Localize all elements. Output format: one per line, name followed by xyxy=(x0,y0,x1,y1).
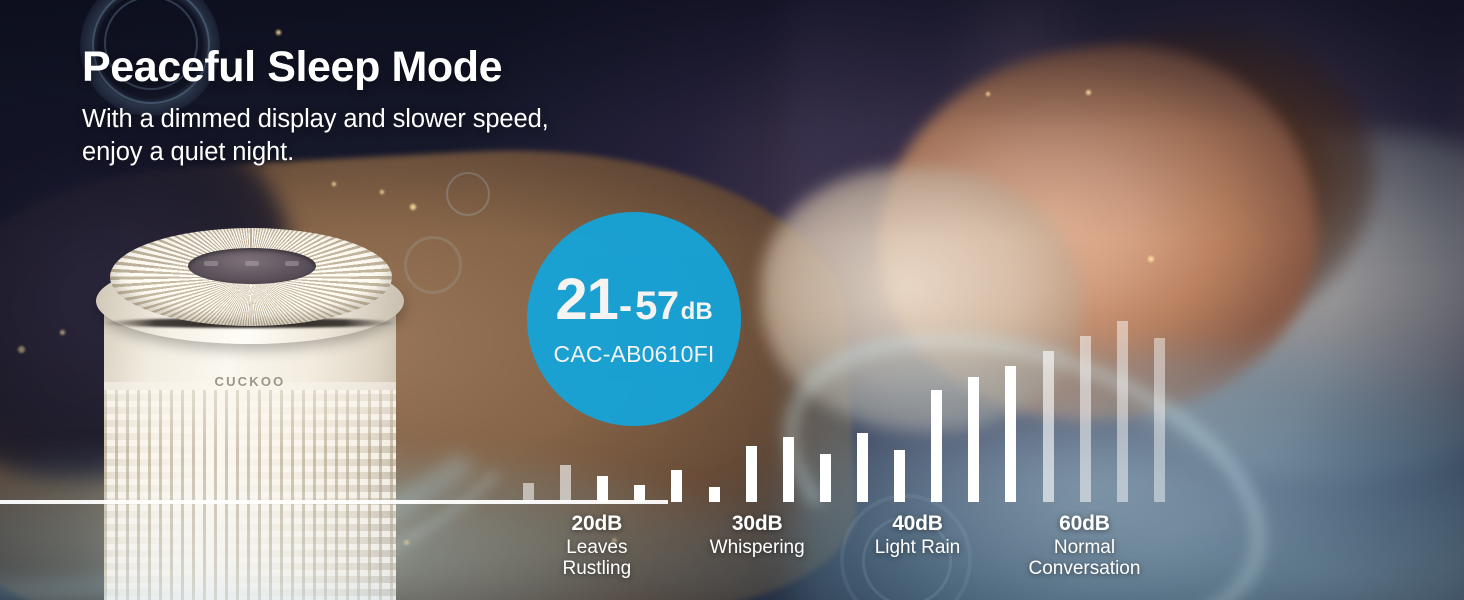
bar-slot xyxy=(696,286,733,502)
bokeh-dot-icon xyxy=(276,30,281,35)
bar-slot xyxy=(807,286,844,502)
bokeh-ring-icon xyxy=(404,236,462,294)
bar-slot xyxy=(1141,286,1178,502)
page-title: Peaceful Sleep Mode xyxy=(82,44,722,90)
copy-block: Peaceful Sleep Mode With a dimmed displa… xyxy=(82,44,722,169)
chart-bar xyxy=(857,433,868,502)
legend-db-value: 40dB xyxy=(875,512,961,536)
bar-slot xyxy=(992,286,1029,502)
legend-source-name: Whispering xyxy=(710,537,805,558)
chart-legend: 20dBLeavesRustling30dBWhispering40dBLigh… xyxy=(510,512,1178,596)
chart-bar xyxy=(1005,366,1016,502)
legend-source-name: Leaves xyxy=(563,537,632,558)
bar-slot xyxy=(621,286,658,502)
page-subtitle: With a dimmed display and slower speed, … xyxy=(82,103,722,168)
chart-bar xyxy=(671,470,682,502)
chart-bar xyxy=(968,377,979,502)
bokeh-dot-icon xyxy=(18,346,25,353)
bokeh-dot-icon xyxy=(332,182,336,186)
timer-button-icon[interactable] xyxy=(285,261,299,266)
chart-baseline-axis xyxy=(0,500,668,504)
chart-bar xyxy=(931,390,942,502)
bar-slot xyxy=(918,286,955,502)
product-mesh-fade xyxy=(104,382,396,600)
legend-db-value: 20dB xyxy=(563,512,632,536)
bar-slot xyxy=(770,286,807,502)
chart-bar xyxy=(746,446,757,502)
chart-bar xyxy=(820,454,831,502)
chart-bar xyxy=(783,437,794,502)
bokeh-dot-icon xyxy=(1086,90,1091,95)
chart-bar xyxy=(894,450,905,502)
legend-source-name: Conversation xyxy=(1028,558,1140,579)
product-air-purifier: CUCKOO xyxy=(92,222,410,600)
chart-bar xyxy=(709,487,720,502)
legend-source-name: Rustling xyxy=(563,558,632,579)
bar-slot xyxy=(547,286,584,502)
fan-speed-button-icon[interactable] xyxy=(245,261,259,266)
legend-item: 60dBNormalConversation xyxy=(1028,512,1140,580)
bar-slot xyxy=(584,286,621,502)
bar-slot xyxy=(1030,286,1067,502)
bokeh-dot-icon xyxy=(380,190,384,194)
noise-bar-chart xyxy=(510,286,1178,502)
chart-bar xyxy=(1154,338,1165,502)
bokeh-dot-icon xyxy=(410,204,416,210)
chart-bar xyxy=(560,465,571,502)
bar-slot xyxy=(658,286,695,502)
chart-bar xyxy=(597,476,608,502)
legend-item: 40dBLight Rain xyxy=(875,512,961,558)
bar-slot xyxy=(881,286,918,502)
bar-slot xyxy=(733,286,770,502)
promo-banner: CUCKOO Peaceful Sleep Mode With a dimmed… xyxy=(0,0,1464,600)
chart-bar xyxy=(1043,351,1054,502)
legend-source-name: Light Rain xyxy=(875,537,961,558)
bar-slot xyxy=(1067,286,1104,502)
power-button-icon[interactable] xyxy=(204,261,218,266)
subtitle-line-2: enjoy a quiet night. xyxy=(82,136,722,169)
legend-db-value: 30dB xyxy=(710,512,805,536)
product-control-panel[interactable] xyxy=(188,248,316,284)
bar-slot xyxy=(844,286,881,502)
chart-bar xyxy=(1080,336,1091,502)
product-brand-logo: CUCKOO xyxy=(104,374,396,389)
bar-series xyxy=(510,286,1178,502)
legend-source-name: Normal xyxy=(1028,537,1140,558)
subtitle-line-1: With a dimmed display and slower speed, xyxy=(82,103,722,136)
bokeh-dot-icon xyxy=(60,330,65,335)
legend-item: 20dBLeavesRustling xyxy=(563,512,632,580)
legend-db-value: 60dB xyxy=(1028,512,1140,536)
bokeh-dot-icon xyxy=(986,92,990,96)
bokeh-dot-icon xyxy=(1148,256,1154,262)
legend-item: 30dBWhispering xyxy=(710,512,805,558)
bar-slot xyxy=(510,286,547,502)
bokeh-ring-icon xyxy=(446,172,490,216)
bar-slot xyxy=(1104,286,1141,502)
chart-bar xyxy=(1117,321,1128,502)
bar-slot xyxy=(955,286,992,502)
